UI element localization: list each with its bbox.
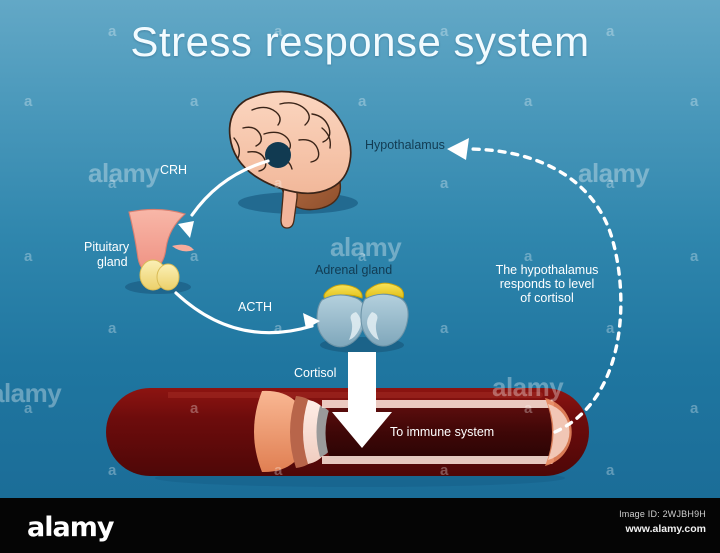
illustration-canvas: a a a a a a a a a a a a a a a a a a a a … <box>0 0 720 495</box>
label-adrenal-gland: Adrenal gland <box>315 263 392 277</box>
label-hypothalamus: Hypothalamus <box>365 138 445 152</box>
label-acth: ACTH <box>238 300 272 314</box>
label-cortisol: Cortisol <box>294 366 336 380</box>
pituitary-wing <box>172 245 194 252</box>
pituitary-illustration <box>129 209 194 290</box>
footer-credit: Image ID: 2WJBH9H www.alamy.com <box>619 509 706 535</box>
vessel-inner-stripe-bottom <box>322 456 554 464</box>
label-pituitary-line2: gland <box>97 255 128 269</box>
alamy-url-text: www.alamy.com <box>619 523 706 535</box>
image-id-text: Image ID: 2WJBH9H <box>619 509 706 519</box>
label-to-immune-system: To immune system <box>390 425 494 439</box>
hypothalamus-dot <box>265 142 291 168</box>
crh-arrowhead <box>178 221 194 238</box>
feedback-arrowhead <box>447 138 469 160</box>
page-title: Stress response system <box>0 18 720 66</box>
alamy-logo: alamy <box>27 512 113 543</box>
pituitary-bulb-right <box>157 264 179 290</box>
label-feedback-line2: responds to level <box>487 277 607 291</box>
screenshot-root: a a a a a a a a a a a a a a a a a a a a … <box>0 0 720 553</box>
blood-vessel-illustration <box>106 388 589 476</box>
label-feedback-line3: of cortisol <box>487 291 607 305</box>
label-feedback-line1: The hypothalamus <box>487 263 607 277</box>
alamy-footer-bar: alamy Image ID: 2WJBH9H www.alamy.com <box>0 495 720 553</box>
label-crh: CRH <box>160 163 187 177</box>
label-pituitary-line1: Pituitary <box>84 240 129 254</box>
